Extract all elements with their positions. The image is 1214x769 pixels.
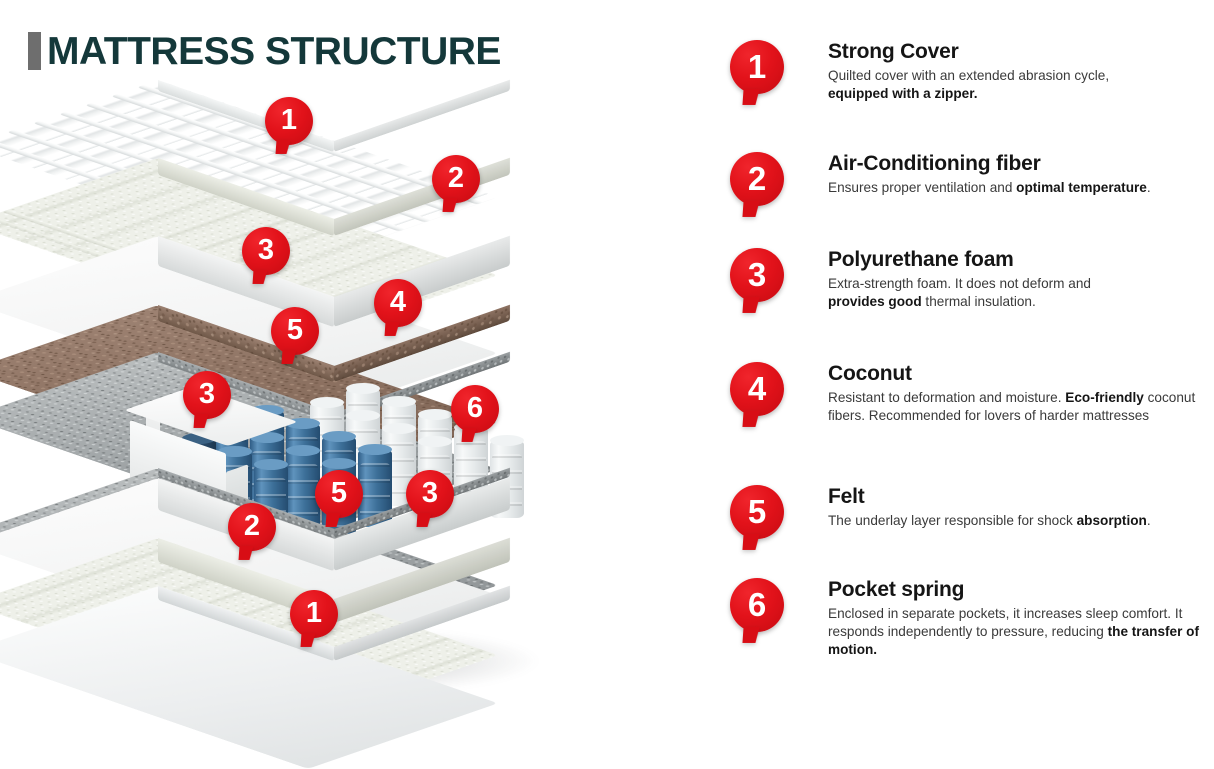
legend-title-6: Pocket spring: [828, 578, 1214, 602]
diagram-marker-4-coconut[interactable]: 4: [374, 279, 422, 327]
legend-panel: 1 Strong Cover Quilted cover with an ext…: [715, 30, 1214, 690]
legend-text-4: Coconut Resistant to deformation and moi…: [828, 362, 1214, 425]
legend-desc-1: Quilted cover with an extended abrasion …: [828, 67, 1214, 103]
mattress-layer-stack: [110, 80, 590, 680]
legend-desc-3: Extra-strength foam. It does not deform …: [828, 275, 1214, 311]
legend-text-2: Air-Conditioning fiber Ensures proper ve…: [828, 152, 1214, 197]
page-title-text: MATTRESS STRUCTURE: [47, 32, 501, 71]
legend-desc-bold-3: provides good: [828, 294, 922, 309]
legend-marker-1[interactable]: 1: [730, 40, 784, 94]
legend-text-6: Pocket spring Enclosed in separate pocke…: [828, 578, 1214, 659]
legend-desc-bold-4: Eco-friendly: [1065, 390, 1144, 405]
diagram-marker-3-foam-bottom[interactable]: 3: [406, 470, 454, 518]
diagram-marker-5-felt-upper[interactable]: 5: [271, 307, 319, 355]
legend-marker-6[interactable]: 6: [730, 578, 784, 632]
page-title: MATTRESS STRUCTURE: [28, 28, 501, 74]
legend-title-4: Coconut: [828, 362, 1214, 386]
legend-title-3: Polyurethane foam: [828, 248, 1214, 272]
legend-desc-plain-5: The underlay layer responsible for shock: [828, 513, 1077, 528]
legend-title-1: Strong Cover: [828, 40, 1214, 64]
legend-marker-5[interactable]: 5: [730, 485, 784, 539]
legend-desc-plain-3: Extra-strength foam. It does not deform …: [828, 276, 1091, 291]
diagram-marker-3-foam-top[interactable]: 3: [242, 227, 290, 275]
legend-desc-plain-2: Ensures proper ventilation and: [828, 180, 1016, 195]
diagram-marker-2-fiber-bottom[interactable]: 2: [228, 503, 276, 551]
legend-desc-6: Enclosed in separate pockets, it increas…: [828, 605, 1214, 659]
title-accent-bar: [28, 32, 41, 70]
legend-desc-bold-1: equipped with a zipper.: [828, 86, 978, 101]
legend-desc-4: Resistant to deformation and moisture. E…: [828, 389, 1214, 425]
legend-title-2: Air-Conditioning fiber: [828, 152, 1214, 176]
legend-text-1: Strong Cover Quilted cover with an exten…: [828, 40, 1214, 103]
legend-desc-5: The underlay layer responsible for shock…: [828, 512, 1214, 530]
legend-desc-tail-2: .: [1147, 180, 1151, 195]
diagram-marker-2-fiber-top[interactable]: 2: [432, 155, 480, 203]
legend-text-5: Felt The underlay layer responsible for …: [828, 485, 1214, 530]
legend-text-3: Polyurethane foam Extra-strength foam. I…: [828, 248, 1214, 311]
cover-front-right-face: [334, 80, 510, 152]
legend-desc-plain-4: Resistant to deformation and moisture.: [828, 390, 1065, 405]
legend-title-5: Felt: [828, 485, 1214, 509]
legend-marker-3[interactable]: 3: [730, 248, 784, 302]
mattress-exploded-diagram: 1 2 3 4 5 3 6 5 3 2 1: [0, 70, 700, 705]
diagram-marker-3-foam-frame[interactable]: 3: [183, 371, 231, 419]
diagram-marker-1-top-cover[interactable]: 1: [265, 97, 313, 145]
legend-marker-2[interactable]: 2: [730, 152, 784, 206]
legend-desc-2: Ensures proper ventilation and optimal t…: [828, 179, 1214, 197]
legend-marker-4[interactable]: 4: [730, 362, 784, 416]
diagram-marker-5-felt-lower[interactable]: 5: [315, 470, 363, 518]
legend-desc-tail-5: .: [1147, 513, 1151, 528]
diagram-marker-1-bottom-cover[interactable]: 1: [290, 590, 338, 638]
legend-desc-bold-5: absorption: [1077, 513, 1147, 528]
legend-desc-plain-1: Quilted cover with an extended abrasion …: [828, 68, 1109, 83]
legend-desc-bold-2: optimal temperature: [1016, 180, 1147, 195]
diagram-marker-6-pocket-spring[interactable]: 6: [451, 385, 499, 433]
legend-desc-tail-3: thermal insulation.: [922, 294, 1036, 309]
